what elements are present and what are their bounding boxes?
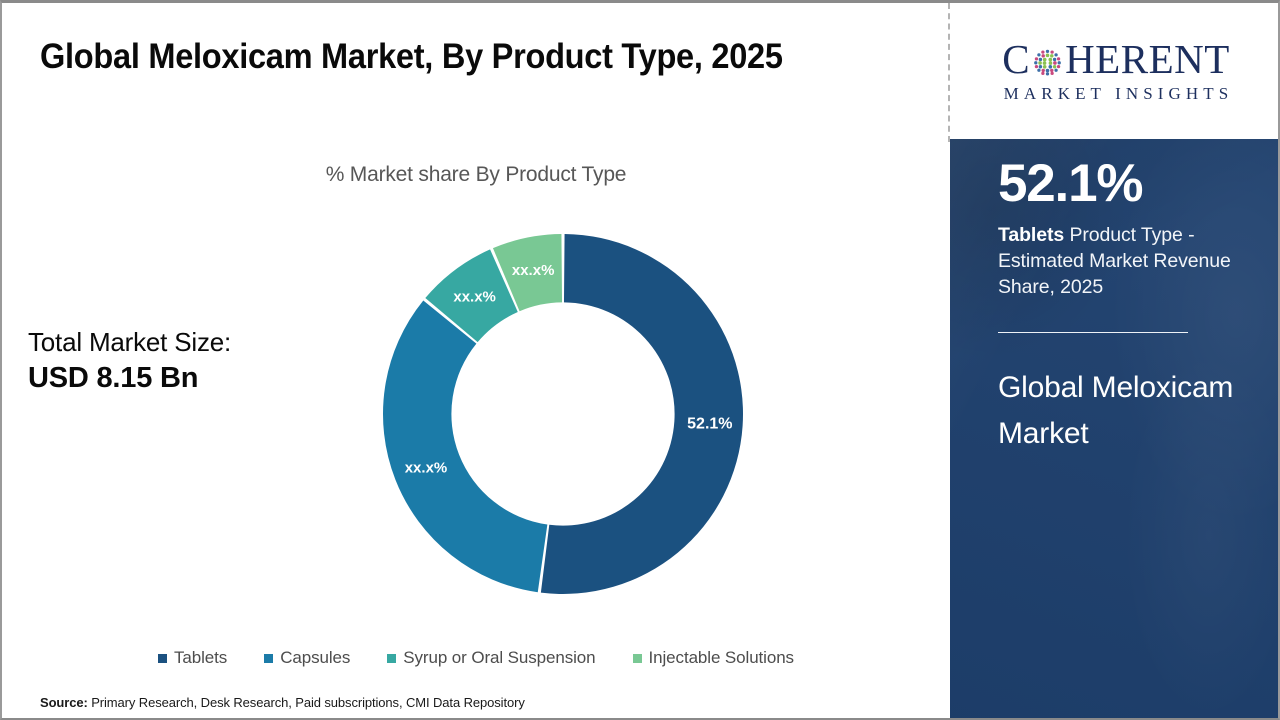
chart-subtitle: % Market share By Product Type [2,163,950,187]
donut-chart: 52.1%xx.x%xx.x%xx.x% [377,228,749,600]
right-panel: C [950,3,1280,720]
donut-slice-label: xx.x% [405,460,448,477]
legend-label: Capsules [280,648,350,668]
stat-caption: Tablets Product Type - Estimated Market … [998,222,1252,300]
source-text: Primary Research, Desk Research, Paid su… [88,695,525,710]
donut-slice-label: 52.1% [687,416,732,433]
left-content-panel: Global Meloxicam Market, By Product Type… [2,3,950,718]
legend-swatch-icon [264,654,273,663]
legend-swatch-icon [387,654,396,663]
legend-item[interactable]: Capsules [264,648,350,668]
source-note: Source: Primary Research, Desk Research,… [40,695,525,710]
legend-label: Injectable Solutions [649,648,794,668]
stat-figure: 52.1% [998,153,1252,216]
donut-slice-group [383,234,743,594]
legend-item[interactable]: Injectable Solutions [633,648,794,668]
legend-item[interactable]: Syrup or Oral Suspension [387,648,595,668]
legend-swatch-icon [633,654,642,663]
total-market-size-value: USD 8.15 Bn [28,359,231,397]
stat-content: 52.1% Tablets Product Type - Estimated M… [950,153,1280,456]
brand-wordmark: C [1002,39,1230,80]
donut-slice[interactable] [383,300,547,592]
brand-name-part2: HERENT [1065,39,1230,80]
donut-chart-svg: 52.1%xx.x%xx.x%xx.x% [377,228,749,600]
brand-name-part1: C [1002,39,1030,80]
donut-slice[interactable] [541,234,743,594]
stat-divider [998,332,1188,333]
total-market-size-label: Total Market Size: [28,325,231,359]
legend-label: Tablets [174,648,227,668]
brand-logo: C [950,3,1280,139]
market-name: Global Meloxicam Market [998,365,1252,456]
stat-caption-highlight: Tablets [998,224,1064,246]
donut-slice-label: xx.x% [512,262,555,279]
total-market-size-block: Total Market Size: USD 8.15 Bn [28,325,231,398]
infographic-root: Global Meloxicam Market, By Product Type… [0,0,1280,720]
chart-legend: TabletsCapsulesSyrup or Oral SuspensionI… [2,648,950,668]
legend-swatch-icon [158,654,167,663]
legend-item[interactable]: Tablets [158,648,227,668]
source-label: Source: [40,695,88,710]
stat-highlight-panel: 52.1% Tablets Product Type - Estimated M… [950,139,1280,720]
donut-slice-label: xx.x% [453,288,496,305]
legend-label: Syrup or Oral Suspension [403,648,595,668]
page-title: Global Meloxicam Market, By Product Type… [40,32,812,83]
brand-tagline: MARKET INSIGHTS [999,84,1234,104]
globe-dots-icon [1031,45,1064,78]
